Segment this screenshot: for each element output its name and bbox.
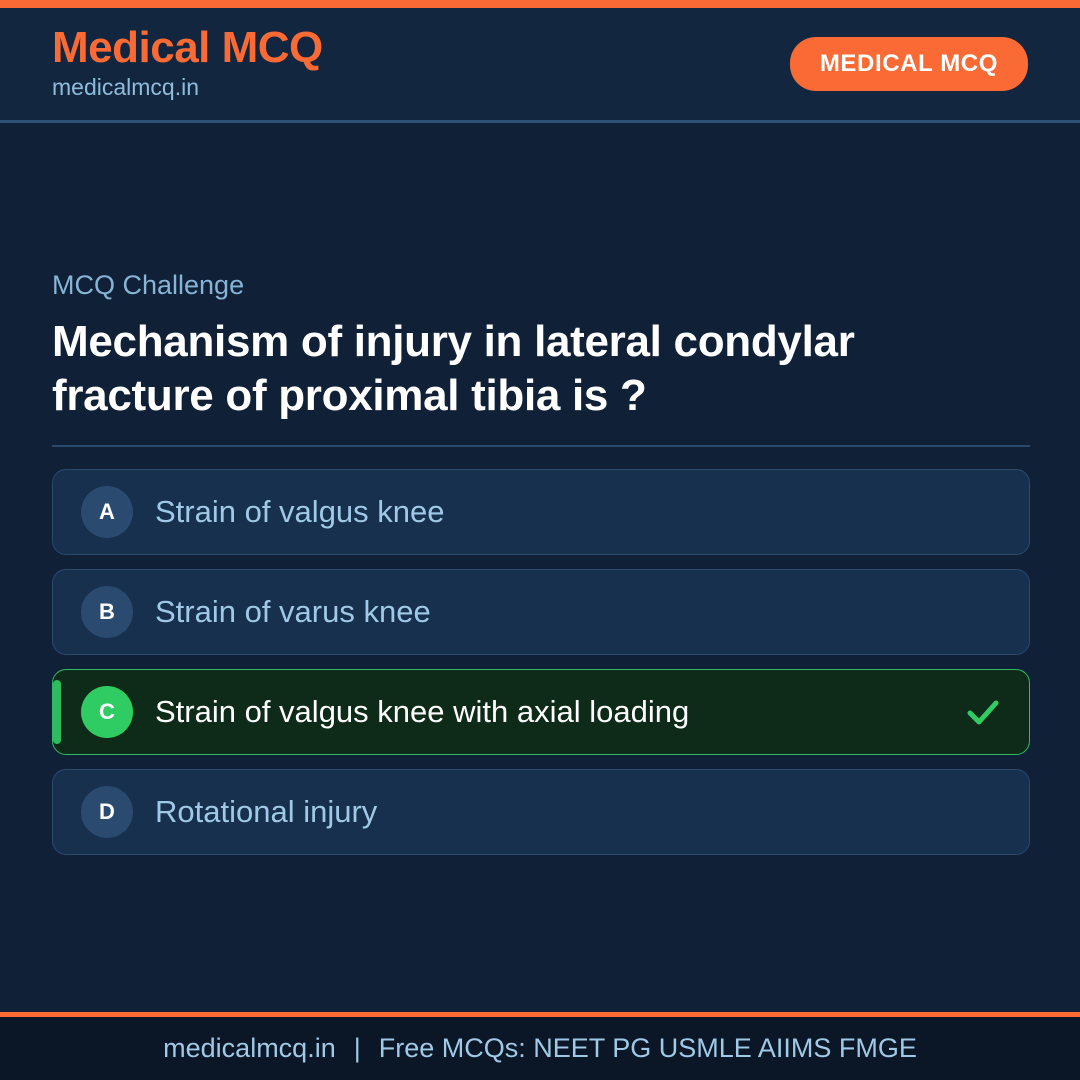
correct-check-icon	[963, 692, 1003, 732]
top-accent-bar	[0, 0, 1080, 8]
brand-block: Medical MCQ medicalmcq.in	[52, 25, 323, 103]
option-c[interactable]: CStrain of valgus knee with axial loadin…	[52, 669, 1030, 755]
mcq-card: Medical MCQ medicalmcq.in MEDICAL MCQ MC…	[0, 0, 1080, 1080]
header: Medical MCQ medicalmcq.in MEDICAL MCQ	[0, 8, 1080, 123]
header-badge: MEDICAL MCQ	[790, 37, 1028, 91]
question-text: Mechanism of injury in lateral condylar …	[52, 315, 952, 422]
question-divider	[52, 445, 1030, 447]
correct-accent-bar	[53, 680, 61, 744]
option-label: Strain of varus knee	[155, 593, 1003, 630]
options-list: AStrain of valgus kneeBStrain of varus k…	[52, 469, 1028, 855]
footer-exams: Free MCQs: NEET PG USMLE AIIMS FMGE	[379, 1033, 917, 1064]
option-label: Strain of valgus knee with axial loading	[155, 693, 949, 730]
section-kicker: MCQ Challenge	[52, 269, 1028, 301]
footer: medicalmcq.in | Free MCQs: NEET PG USMLE…	[0, 1017, 1080, 1080]
brand-title: Medical MCQ	[52, 25, 323, 71]
option-label: Strain of valgus knee	[155, 493, 1003, 530]
option-a[interactable]: AStrain of valgus knee	[52, 469, 1030, 555]
brand-website: medicalmcq.in	[52, 73, 323, 103]
footer-separator: |	[336, 1033, 379, 1064]
option-d[interactable]: DRotational injury	[52, 769, 1030, 855]
option-label: Rotational injury	[155, 793, 1003, 830]
option-letter-badge: C	[81, 686, 133, 738]
option-letter-badge: B	[81, 586, 133, 638]
option-letter-badge: D	[81, 786, 133, 838]
main-content: MCQ Challenge Mechanism of injury in lat…	[0, 123, 1080, 1012]
option-letter-badge: A	[81, 486, 133, 538]
footer-website: medicalmcq.in	[163, 1033, 336, 1064]
option-b[interactable]: BStrain of varus knee	[52, 569, 1030, 655]
